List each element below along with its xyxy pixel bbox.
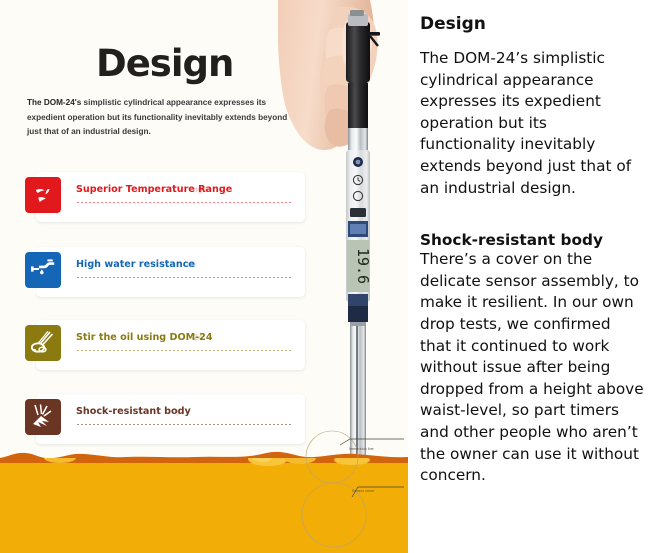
feature-dotted-rule-stir bbox=[77, 350, 291, 351]
device-display-reading: 19.6 bbox=[354, 248, 372, 284]
infographic-paragraph-bold: The DOM-24's bbox=[27, 98, 81, 107]
ip67-badge: IP67 bbox=[25, 287, 61, 296]
feature-label-shock: Shock-resistant body bbox=[76, 406, 191, 417]
feature-card-temperature[interactable]: Superior Temperature Range nge bbox=[36, 172, 305, 222]
panel-body-shock-resistant: There’s a cover on the delicate sensor a… bbox=[420, 249, 645, 487]
panel-heading-design: Design bbox=[420, 14, 645, 34]
feature-ghost-water: ce bbox=[187, 260, 196, 269]
feature-card-stir[interactable]: Stir the oil using DOM-24 -24 bbox=[36, 320, 305, 370]
shock-impact-icon bbox=[25, 399, 61, 435]
feature-dotted-rule-temperature bbox=[77, 202, 291, 203]
immersion-line-callout: Immersion line bbox=[349, 447, 374, 451]
faucet-water-icon bbox=[25, 252, 61, 288]
temperature-flame-icon bbox=[25, 177, 61, 213]
feature-card-water[interactable]: IP67 High water resistance ce bbox=[36, 247, 305, 297]
infographic-paragraph: The DOM-24's simplistic cylindrical appe… bbox=[27, 96, 297, 140]
page-root: Design The DOM-24's simplistic cylindric… bbox=[0, 0, 661, 553]
feature-ghost-stir: -24 bbox=[191, 333, 203, 342]
panel-subheading-shock-resistant: Shock-resistant body bbox=[420, 231, 645, 249]
feature-card-shock[interactable]: Shock-resistant body y bbox=[36, 394, 305, 444]
infographic-title: Design bbox=[96, 42, 233, 85]
sensor-cover-callout: Sensor cover bbox=[352, 489, 374, 493]
feature-label-water: High water resistance bbox=[76, 259, 195, 270]
feature-dotted-rule-shock bbox=[77, 424, 291, 425]
panel-body-design: The DOM-24’s simplistic cylindrical appe… bbox=[420, 48, 645, 199]
product-infographic-image: Design The DOM-24's simplistic cylindric… bbox=[0, 0, 408, 553]
description-text-panel: Design The DOM-24’s simplistic cylindric… bbox=[408, 0, 661, 553]
feature-dotted-rule-water bbox=[77, 277, 291, 278]
whisk-stir-icon bbox=[25, 325, 61, 361]
feature-ghost-temperature: nge bbox=[193, 185, 207, 194]
feature-ghost-shock: y bbox=[176, 407, 180, 416]
feature-label-temperature: Superior Temperature Range bbox=[76, 184, 232, 195]
